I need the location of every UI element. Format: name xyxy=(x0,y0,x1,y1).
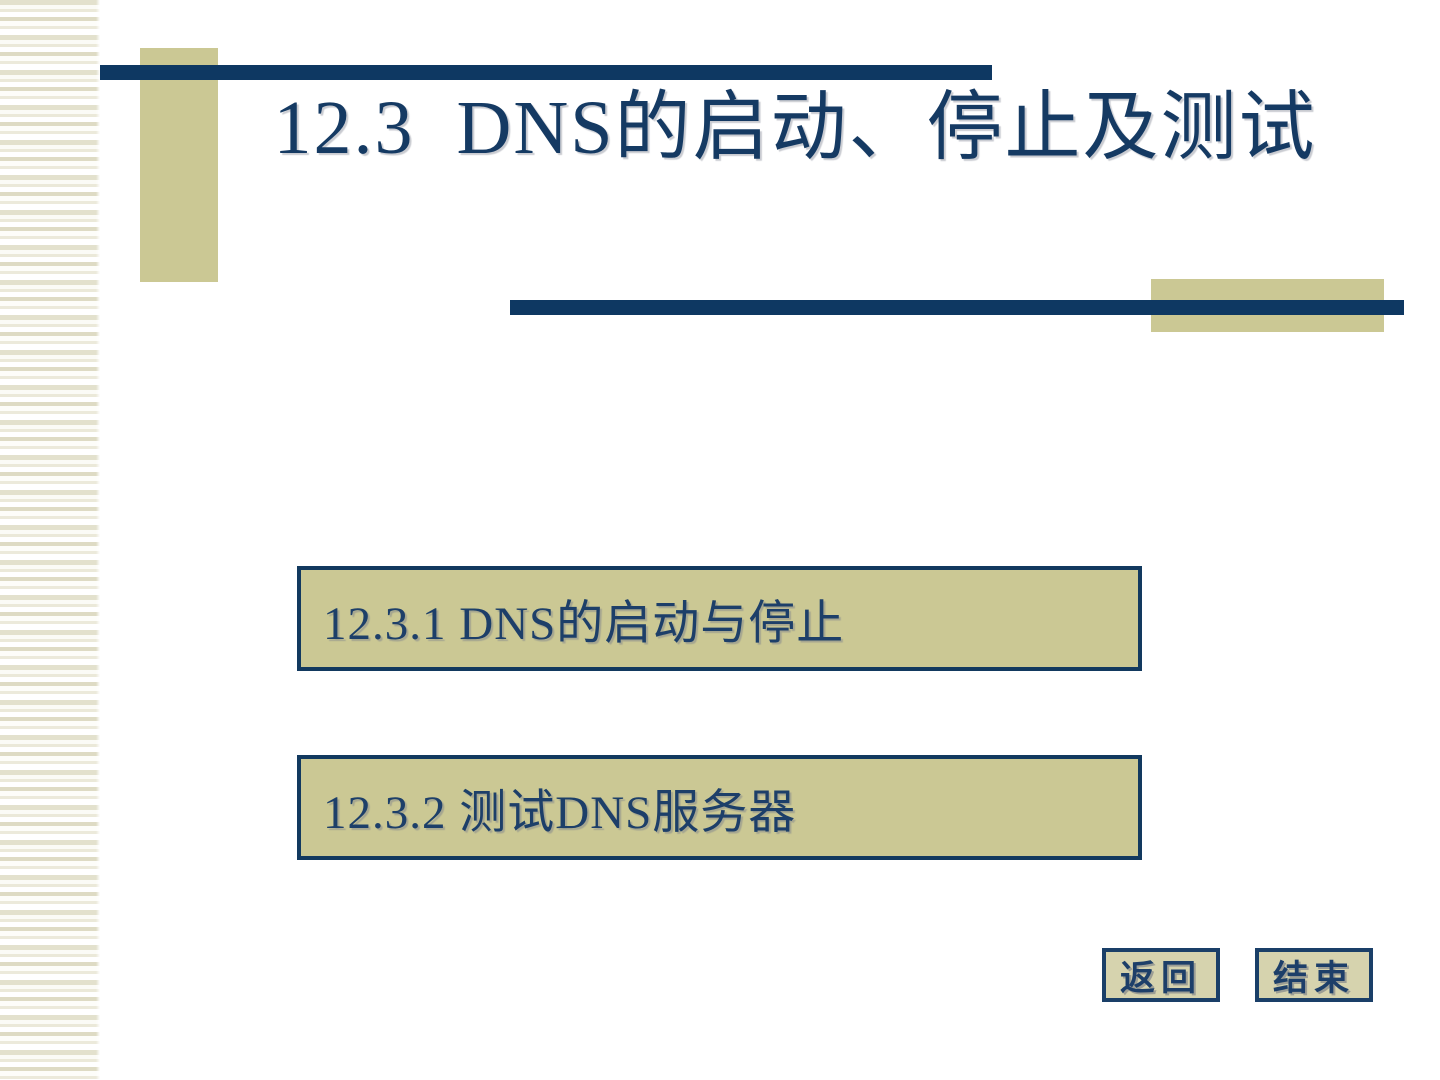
section-box-12-3-2[interactable]: 12.3.2 测试DNS服务器 xyxy=(297,755,1142,860)
decorative-stripe-band xyxy=(0,0,100,1080)
back-button[interactable]: 返回 xyxy=(1102,948,1220,1002)
slide-canvas: 12.3 DNS的启动、停止及测试 12.3.1 DNS的启动与停止 12.3.… xyxy=(0,0,1440,1080)
title-decoration-bar-top xyxy=(100,65,992,80)
section-box-label: 12.3.2 测试DNS服务器 xyxy=(301,773,796,842)
page-title: 12.3 DNS的启动、停止及测试 xyxy=(215,90,1375,166)
title-decoration-tan-block-top xyxy=(140,48,218,282)
end-button[interactable]: 结束 xyxy=(1255,948,1373,1002)
title-decoration-bar-bottom xyxy=(510,300,1404,315)
section-box-12-3-1[interactable]: 12.3.1 DNS的启动与停止 xyxy=(297,566,1142,671)
section-box-label: 12.3.1 DNS的启动与停止 xyxy=(301,584,844,653)
